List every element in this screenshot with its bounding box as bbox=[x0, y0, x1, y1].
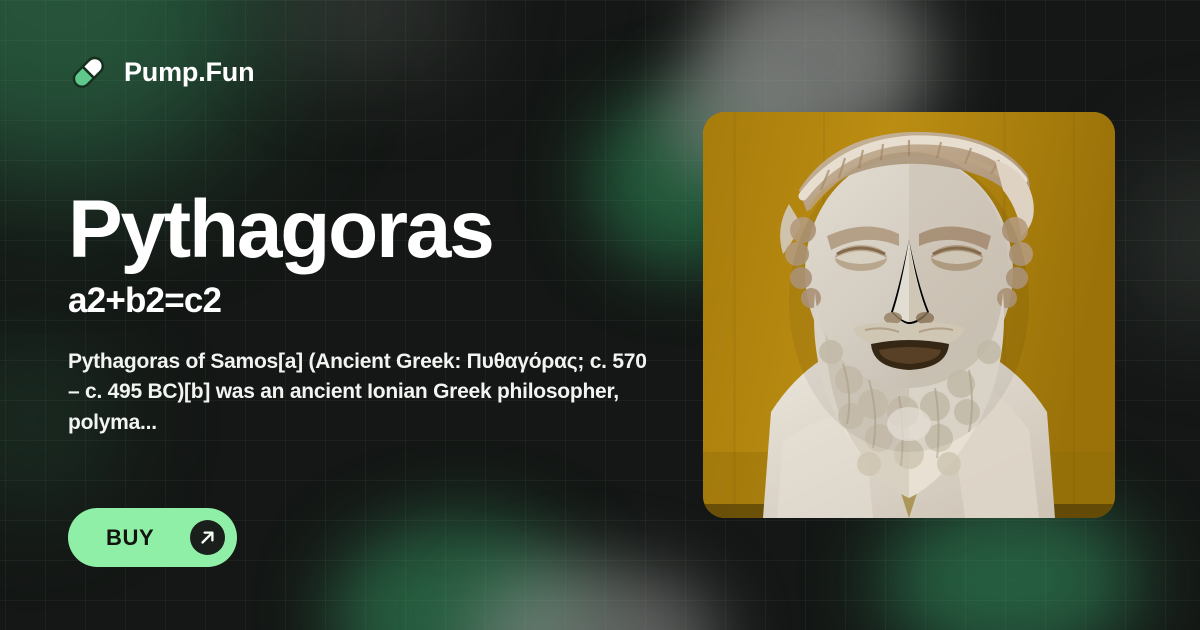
content-column: Pythagoras a2+b2=c2 Pythagoras of Samos[… bbox=[68, 190, 658, 438]
buy-button[interactable]: BUY bbox=[68, 508, 237, 567]
page-title: Pythagoras bbox=[68, 190, 658, 270]
arrow-up-right-icon bbox=[190, 520, 225, 555]
social-preview-card: Pump.Fun Pythagoras a2+b2=c2 Pythagoras … bbox=[0, 0, 1200, 630]
pill-capsule-icon bbox=[68, 52, 108, 92]
hero-image bbox=[703, 112, 1115, 518]
page-description: Pythagoras of Samos[a] (Ancient Greek: Π… bbox=[68, 347, 653, 438]
brand-logo[interactable]: Pump.Fun bbox=[68, 52, 254, 92]
buy-button-label: BUY bbox=[106, 527, 154, 549]
page-subtitle: a2+b2=c2 bbox=[68, 282, 658, 321]
brand-name: Pump.Fun bbox=[124, 59, 254, 86]
